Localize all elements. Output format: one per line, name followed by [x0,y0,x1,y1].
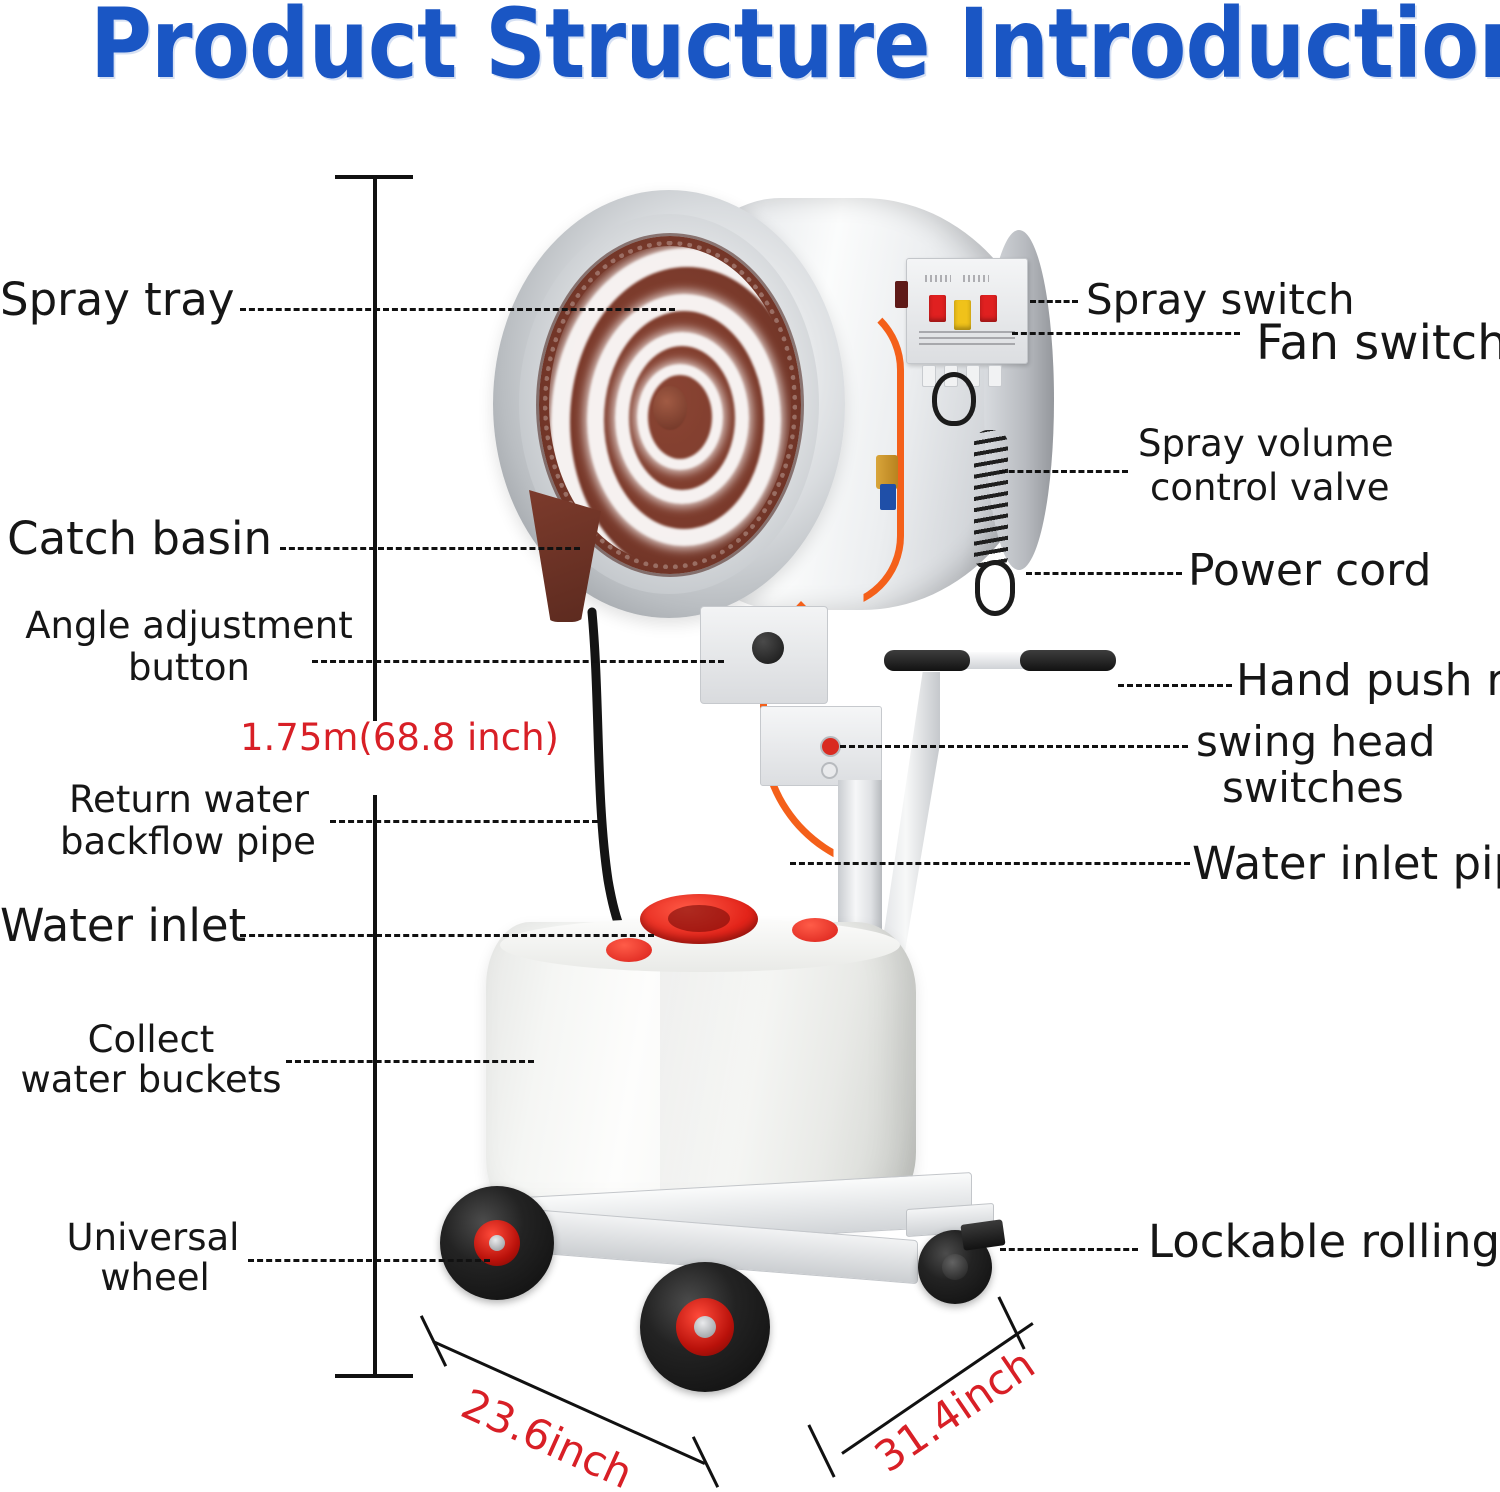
label-swing-head-line1: swing head [1196,720,1435,765]
caster-brake-lever[interactable] [960,1219,1005,1251]
middle-switch-rocker[interactable] [954,300,971,330]
label-angle-adjustment-line1: Angle adjustment [20,606,358,645]
panel-warning-text [919,331,1015,349]
leader-swing-head [840,745,1188,748]
label-hand-push-rod: Hand push rod [1236,658,1500,705]
wheel-bolt-left [489,1235,505,1251]
leader-spray-volume [1000,470,1128,473]
angle-adjustment-button[interactable] [752,632,784,664]
power-cord-loop [932,372,976,426]
catch-basin-spout [529,490,601,622]
label-water-inlet-pipe: Water inlet pipe [1192,840,1500,888]
power-cord-plug [975,560,1015,616]
universal-wheel-front [640,1262,770,1392]
height-dimension-label: 1.75m(68.8 inch) [240,718,540,757]
panel-caption-spray [925,275,951,282]
tank-shading [660,930,832,1216]
leader-power-cord [1026,572,1182,575]
leader-spray-switch [1030,300,1078,303]
swing-head-switch-red[interactable] [822,738,839,755]
hand-grip-right[interactable] [1020,650,1116,671]
label-fan-switch: Fan switch [1256,318,1500,369]
power-indicator-light [895,281,908,308]
control-panel-box[interactable] [906,258,1028,364]
caster-hub [942,1254,968,1280]
label-spray-volume-line1: Spray volume [1138,424,1394,463]
panel-caption-fan [963,275,989,282]
label-collect-water-line2: water buckets [14,1060,288,1099]
swing-head-switch-grey[interactable] [823,764,836,777]
leader-fan-switch [1012,332,1240,335]
label-catch-basin: Catch basin [0,515,272,563]
leader-water-inlet-pipe [790,862,1190,865]
hand-grip-left[interactable] [884,650,970,671]
fan-switch-rocker[interactable] [980,295,997,322]
label-angle-adjustment-line2: button [20,648,358,687]
leader-water-inlet [240,934,654,937]
label-collect-water-line1: Collect [20,1020,282,1059]
power-cord-coiled [974,430,1008,570]
label-power-cord: Power cord [1188,548,1431,595]
leader-catch-basin [280,547,580,550]
label-lockable-rolling: Lockable rolling [1148,1218,1500,1266]
leader-return-water [330,820,598,823]
leader-hand-push-rod [1118,684,1232,687]
leader-spray-tray [240,308,675,311]
height-dimension-cap-bottom [335,1374,413,1378]
return-water-port-cap[interactable] [606,938,652,962]
cable-gland-4 [988,365,1002,387]
spray-switch-rocker[interactable] [929,295,946,322]
water-inlet-port-cap[interactable] [792,918,838,942]
leader-lockable-rolling [1000,1248,1138,1251]
universal-wheel-left [440,1186,554,1300]
label-return-water-line2: backflow pipe [38,822,338,861]
leader-universal-wheel [248,1259,490,1262]
label-return-water-line1: Return water [48,780,330,819]
wheel-bolt-front [694,1316,716,1338]
leader-collect-buckets [286,1060,534,1063]
product-structure-diagram: Product Structure Introduction [0,0,1500,1492]
label-spray-volume-line2: control valve [1150,468,1390,507]
label-universal-wheel-line1: Universal [56,1218,250,1257]
label-swing-head-line2: switches [1222,766,1404,811]
label-spray-tray: Spray tray [0,276,232,324]
fan-hub [653,386,687,430]
water-inlet-cap[interactable] [640,894,758,944]
leader-angle-adjust [312,660,724,663]
height-dimension-line-lower [373,795,377,1377]
cable-gland-1 [922,365,936,387]
label-universal-wheel-line2: wheel [58,1258,252,1297]
height-dimension-line-upper [373,176,377,721]
label-water-inlet: Water inlet [0,902,234,950]
valve-blue-tag [880,484,896,510]
